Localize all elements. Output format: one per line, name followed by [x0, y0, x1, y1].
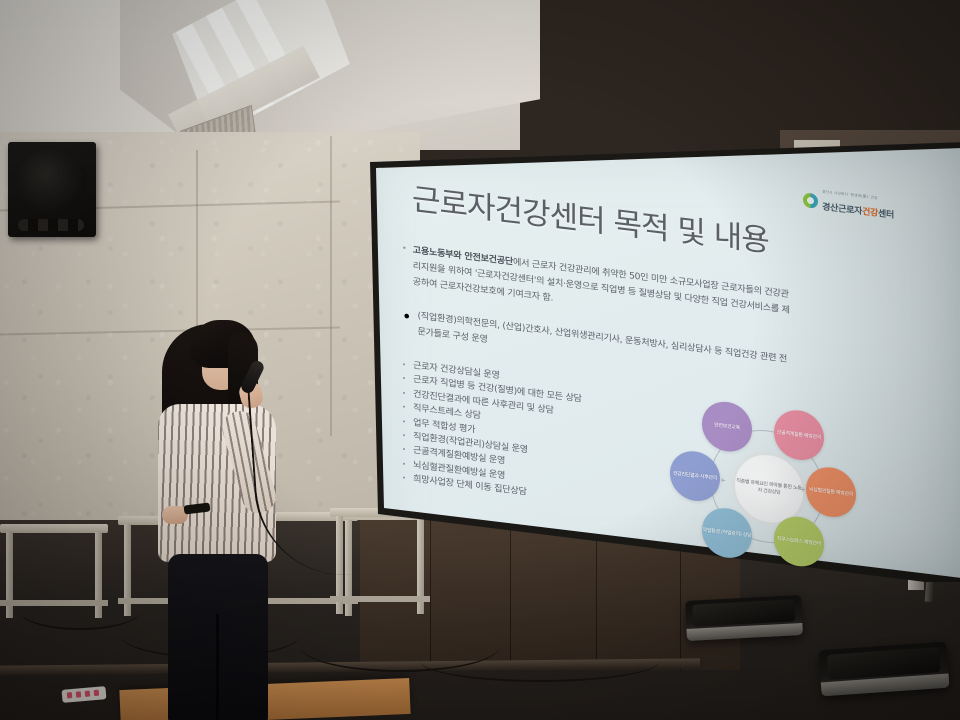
bullet-icon: •: [402, 460, 406, 468]
bullet-icon: •: [402, 432, 406, 440]
bullet-icon: •: [402, 446, 406, 454]
presenter: [128, 318, 308, 720]
bullet-icon: •: [402, 375, 406, 383]
logo-name: 경산근로자건강센터: [822, 202, 894, 220]
diagram-center-label: 직종별 유해요인 파악을 통한 노동자 건강상담: [735, 478, 803, 500]
bullet-icon: •: [402, 361, 406, 369]
presenter-trousers: [168, 554, 268, 720]
diagram-node-label: 안전보건교육: [714, 422, 740, 432]
paragraph-text: 에서 근로자 건강관리에 취약한 50인 미만 소규모사업장 근로자들의 건강관…: [413, 258, 790, 316]
bullet-icon: •: [402, 307, 411, 340]
diagram-node-label: 직무스트레스 예방관리: [777, 535, 821, 547]
bullet-icon: •: [402, 242, 407, 290]
wall-speaker: [8, 142, 96, 237]
floor-cable: [420, 640, 660, 682]
diagram-node-5: 건강진단결과 사후관리: [670, 448, 720, 503]
projection-screen: 경산시 시민복지 '평생애(愛)' 건강 경산근로자건강센터 근로자건강센터 목…: [366, 142, 960, 582]
circular-diagram: 직종별 유해요인 파악을 통한 노동자 건강상담 안전보건교육 근골격계질환 예…: [678, 398, 854, 572]
bullet-icon: •: [402, 474, 406, 482]
logo-circle-icon: [803, 192, 818, 209]
diagram-node-label: 뇌심혈관질환 예방관리: [809, 486, 853, 498]
diagram-node-3: 직무스트레스 예방관리: [774, 514, 824, 569]
diagram-connector: +: [800, 486, 806, 495]
bullet-icon: •: [402, 403, 406, 411]
diagram-connector: +: [720, 476, 726, 485]
bullet-icon: •: [402, 417, 406, 425]
diagram-node-label: 근골격계질환 예방관리: [777, 429, 821, 441]
lecture-room-photo: InBody Test: [0, 0, 960, 720]
bullet-icon: •: [402, 389, 406, 397]
diagram-node-label: 건강진단결과 사후관리: [673, 470, 717, 482]
diagram-node-label: 작업환경 (작업관리) 상담: [703, 527, 752, 540]
slide-content: 경산시 시민복지 '평생애(愛)' 건강 경산근로자건강센터 근로자건강센터 목…: [378, 154, 960, 658]
slide-bullet-list: •근로자 건강상담실 운영 •근로자 직업병 등 건강(질병)에 대한 모든 상…: [402, 360, 702, 523]
floor-cable: [20, 592, 140, 630]
diagram-node-0: 안전보건교육: [702, 399, 752, 454]
